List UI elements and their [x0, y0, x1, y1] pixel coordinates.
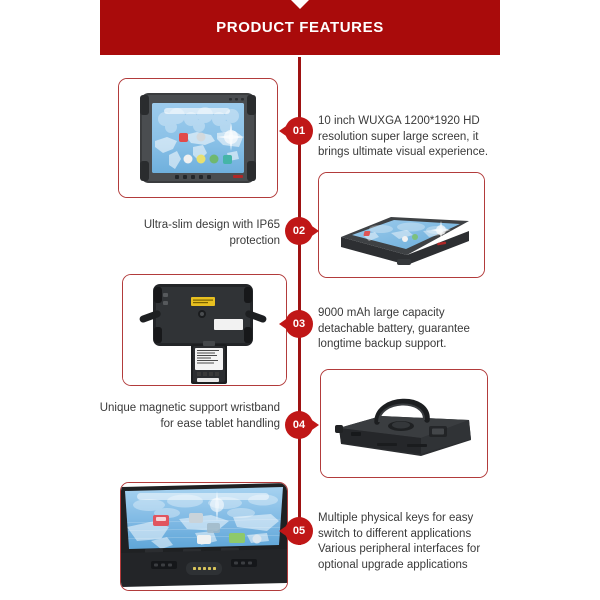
- triangle-down-icon: [291, 0, 309, 9]
- feature-badge-02: 02: [286, 218, 312, 244]
- tablet-front-screen-illustration: [119, 79, 277, 197]
- feature-text-04: Unique magnetic support wristband for ea…: [96, 401, 280, 432]
- feature-badge-03-number: 03: [293, 318, 305, 330]
- feature-text-03: 9000 mAh large capacity detachable batte…: [318, 306, 504, 353]
- feature-badge-01: 01: [286, 118, 312, 144]
- product-features-infographic: PRODUCT FEATURES: [0, 0, 600, 600]
- feature-badge-05: 05: [286, 518, 312, 544]
- tablet-physical-keys-illustration: [121, 483, 287, 590]
- feature-badge-05-number: 05: [293, 525, 305, 537]
- feature-image-01: [118, 78, 278, 198]
- feature-image-03: [122, 274, 287, 386]
- feature-text-01: 10 inch WUXGA 1200*1920 HD resolution su…: [318, 114, 504, 161]
- feature-text-05: Multiple physical keys for easy switch t…: [318, 511, 508, 573]
- feature-badge-02-number: 02: [293, 225, 305, 237]
- tablet-wristband-strap-illustration: [321, 370, 487, 477]
- tablet-back-battery-illustration: [123, 275, 286, 385]
- feature-image-05: [120, 482, 288, 591]
- tablet-slim-profile-illustration: [319, 173, 484, 277]
- header-banner: PRODUCT FEATURES: [100, 0, 500, 55]
- feature-text-02: Ultra-slim design with IP65 protection: [96, 218, 280, 249]
- feature-badge-04-number: 04: [293, 419, 305, 431]
- feature-image-02: [318, 172, 485, 278]
- feature-badge-04: 04: [286, 412, 312, 438]
- feature-image-04: [320, 369, 488, 478]
- feature-badge-03: 03: [286, 311, 312, 337]
- feature-badge-01-number: 01: [293, 125, 305, 137]
